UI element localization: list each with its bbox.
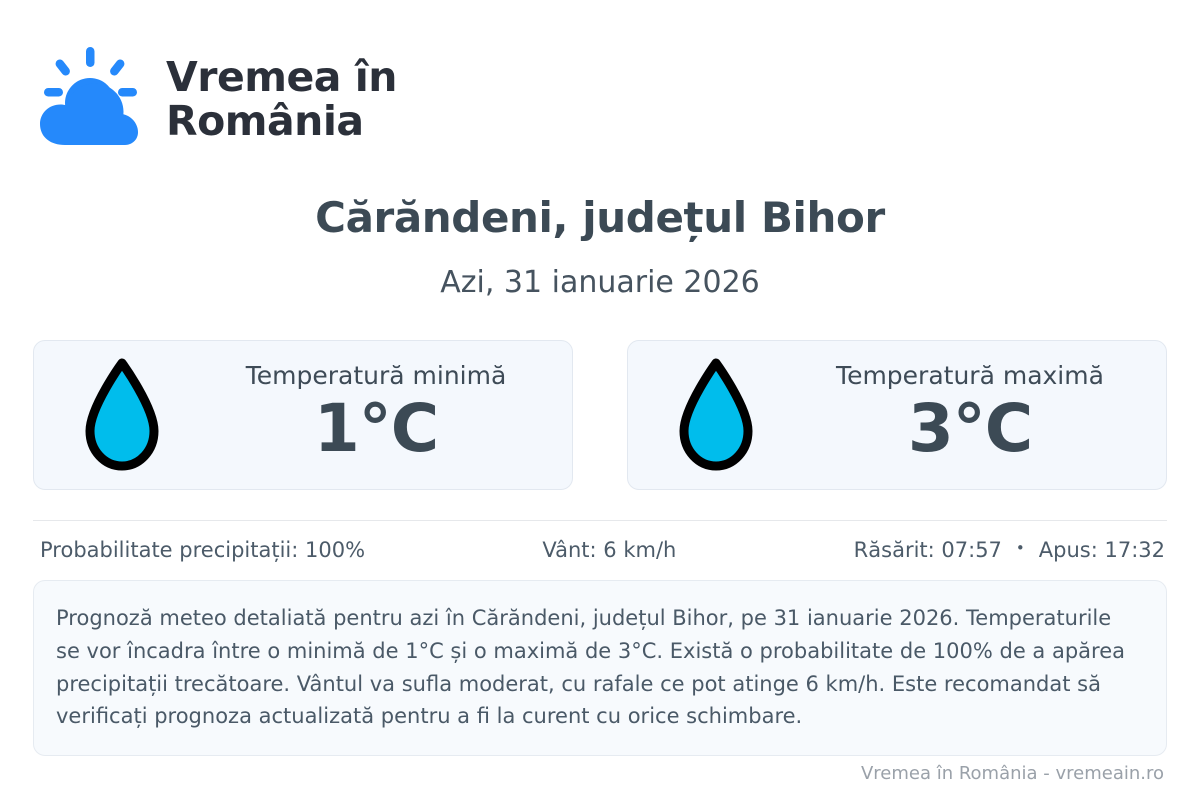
- max-temperature-card: Temperatură maximă 3°C: [627, 340, 1167, 490]
- min-temperature-value: 1°C: [314, 393, 438, 464]
- weather-stats-row: Probabilitate precipitații: 100% Vânt: 6…: [40, 538, 1165, 562]
- forecast-description: Prognoză meteo detaliată pentru azi în C…: [33, 580, 1167, 756]
- sunset-time: Apus: 17:32: [1039, 538, 1165, 562]
- sun-times: Răsărit: 07:57 • Apus: 17:32: [854, 538, 1165, 562]
- max-temperature-body: Temperatură maximă 3°C: [796, 361, 1144, 468]
- temperature-cards: Temperatură minimă 1°C Temperatură maxim…: [33, 340, 1167, 490]
- sun-times-separator: •: [1016, 541, 1025, 556]
- weather-page: Vremea în România Cărăndeni, județul Bih…: [0, 0, 1200, 800]
- precipitation-probability: Probabilitate precipitații: 100%: [40, 538, 365, 562]
- page-subtitle-date: Azi, 31 ianuarie 2026: [0, 265, 1200, 300]
- min-temperature-body: Temperatură minimă 1°C: [202, 361, 550, 468]
- section-divider: [33, 520, 1167, 521]
- sunrise-time: Răsărit: 07:57: [854, 538, 1002, 562]
- sun-cloud-icon: [36, 45, 144, 155]
- brand-name: Vremea în România: [166, 56, 397, 144]
- max-temperature-label: Temperatură maximă: [836, 361, 1104, 391]
- max-temperature-value: 3°C: [908, 393, 1032, 464]
- water-drop-icon: [674, 357, 758, 473]
- page-title: Cărăndeni, județul Bihor: [0, 193, 1200, 242]
- footer-credit: Vremea în România - vremeain.ro: [861, 763, 1164, 784]
- min-temperature-label: Temperatură minimă: [246, 361, 507, 391]
- wind-speed: Vânt: 6 km/h: [542, 538, 676, 562]
- water-drop-icon: [80, 357, 164, 473]
- min-temperature-card: Temperatură minimă 1°C: [33, 340, 573, 490]
- brand-logo[interactable]: Vremea în România: [36, 45, 397, 155]
